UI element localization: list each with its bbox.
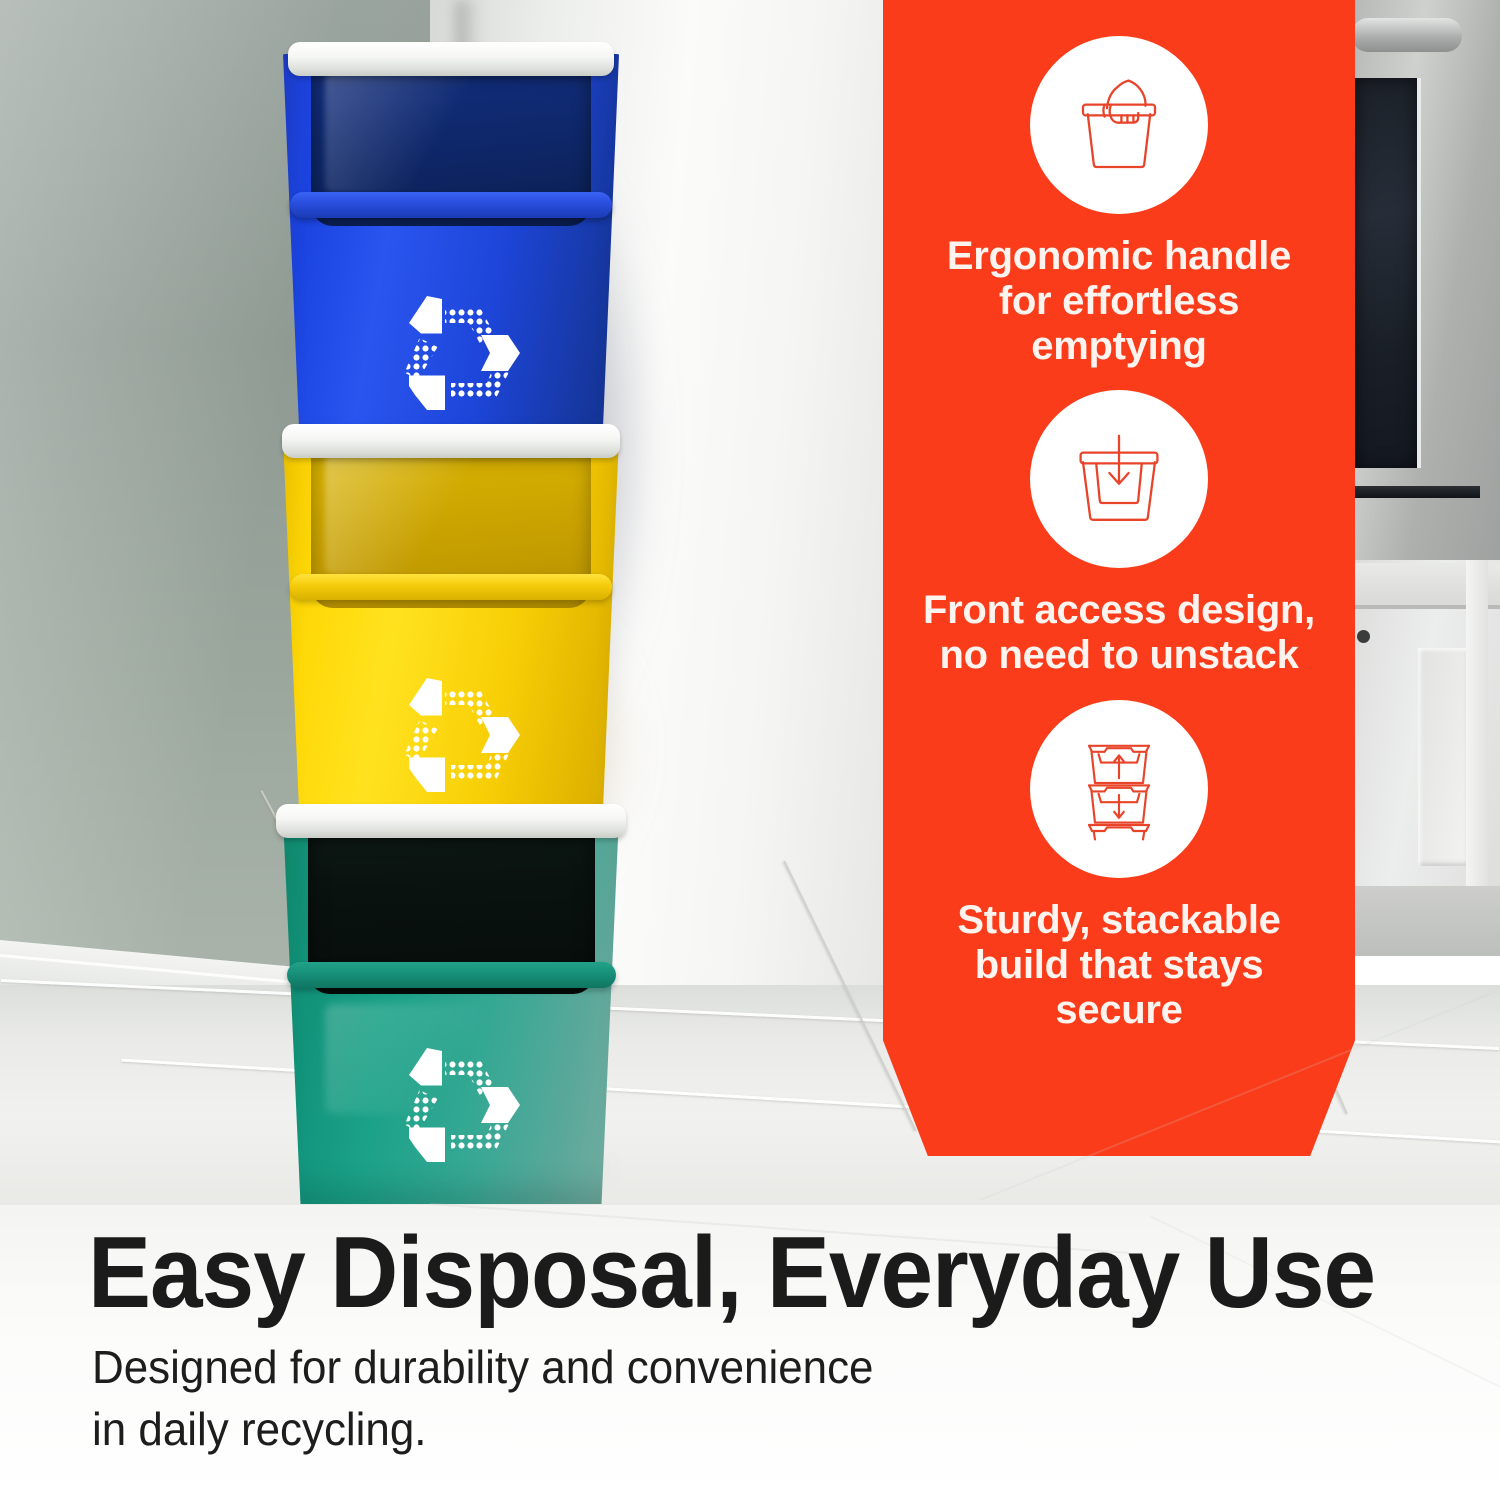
feature-label: Ergonomic handle for effortless emptying bbox=[907, 234, 1331, 368]
feature-item: Ergonomic handle for effortless emptying bbox=[907, 36, 1331, 368]
feature-label: Front access design, no need to unstack bbox=[907, 588, 1331, 678]
bin-blue bbox=[276, 42, 626, 462]
bin-blue-highlight bbox=[325, 72, 479, 192]
oven-vent bbox=[1352, 486, 1480, 498]
bin-yellow bbox=[276, 424, 626, 844]
page-subtitle: Designed for durability and convenience … bbox=[92, 1337, 873, 1460]
bin-green-rim bbox=[276, 804, 626, 838]
bin-yellow-handle bbox=[290, 574, 612, 600]
bin-yellow-highlight bbox=[325, 454, 479, 574]
bin-stack bbox=[276, 42, 626, 1202]
feature-icon-badge bbox=[1030, 390, 1208, 568]
oven-handle bbox=[1352, 18, 1462, 52]
feature-item: Sturdy, stackable build that stays secur… bbox=[907, 700, 1331, 1032]
cabinet-stile bbox=[1466, 560, 1488, 910]
bin-blue-handle bbox=[290, 192, 612, 218]
bin-yellow-rim bbox=[282, 424, 620, 458]
feature-item: Front access design, no need to unstack bbox=[907, 390, 1331, 678]
recycling-symbol-icon bbox=[376, 1042, 526, 1172]
bin-blue-rim bbox=[288, 42, 614, 76]
bin-with-down-arrow-icon bbox=[1059, 419, 1179, 539]
feature-label: Sturdy, stackable build that stays secur… bbox=[907, 898, 1331, 1032]
cabinet-toe-kick bbox=[1352, 886, 1500, 956]
recycling-symbol-icon bbox=[376, 672, 526, 802]
page-title: Easy Disposal, Everyday Use bbox=[88, 1223, 1375, 1324]
cabinet-knob bbox=[1357, 630, 1370, 643]
feature-panel: Ergonomic handle for effortless emptying… bbox=[883, 0, 1355, 1156]
hand-grabbing-bin-handle-icon bbox=[1059, 65, 1179, 185]
oven-window bbox=[1355, 78, 1421, 468]
feature-icon-badge bbox=[1030, 36, 1208, 214]
bottom-text-band: Easy Disposal, Everyday Use Designed for… bbox=[0, 1205, 1500, 1500]
stacked-bins-up-down-arrows-icon bbox=[1059, 729, 1179, 849]
cabinet-door-panel bbox=[1418, 648, 1470, 866]
bin-green-handle bbox=[287, 962, 616, 988]
recycling-symbol-icon bbox=[376, 290, 526, 420]
bin-green bbox=[276, 804, 626, 1204]
marketing-image: Ergonomic handle for effortless emptying… bbox=[0, 0, 1500, 1500]
feature-icon-badge bbox=[1030, 700, 1208, 878]
